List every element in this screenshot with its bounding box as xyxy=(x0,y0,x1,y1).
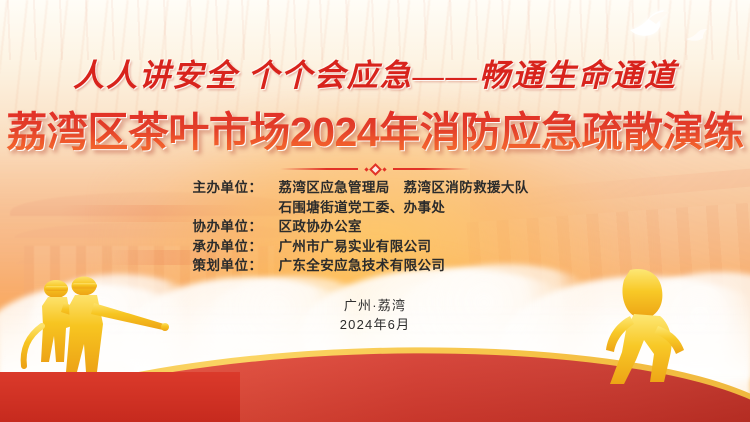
slogan-line: 人人讲安全 个个会应急——畅通生命通道 xyxy=(0,50,750,95)
ornamental-divider xyxy=(280,162,470,176)
location-text: 广州·荔湾 xyxy=(0,296,750,315)
divider-ornament xyxy=(358,165,393,174)
organizer-row: 策划单位： 广东全安应急技术有限公司 xyxy=(193,256,558,276)
organizer-value: 荔湾区应急管理局 荔湾区消防救援大队 xyxy=(279,178,558,198)
divider-dot-icon xyxy=(382,167,386,171)
page-title: 荔湾区茶叶市场2024年消防应急疏散演练 xyxy=(0,98,750,158)
organizer-row: 承办单位： 广州市广易实业有限公司 xyxy=(193,237,558,257)
divider-line-left xyxy=(280,168,358,170)
organizer-label: 策划单位： xyxy=(193,256,279,276)
poster-text-content: 人人讲安全 个个会应急——畅通生命通道 荔湾区茶叶市场2024年消防应急疏散演练… xyxy=(0,0,750,422)
organizer-label: 协办单位： xyxy=(193,217,279,237)
organizer-value: 广东全安应急技术有限公司 xyxy=(279,256,558,276)
organizer-label: 承办单位： xyxy=(193,237,279,257)
organizer-label: 主办单位： xyxy=(193,178,279,198)
organizer-row: 石围塘街道党工委、办事处 xyxy=(193,198,558,218)
poster-canvas: 人人讲安全 个个会应急——畅通生命通道 荔湾区茶叶市场2024年消防应急疏散演练… xyxy=(0,0,750,422)
organizer-row: 主办单位： 荔湾区应急管理局 荔湾区消防救援大队 xyxy=(193,178,558,198)
organizer-value: 区政协办公室 xyxy=(279,217,558,237)
date-text: 2024年6月 xyxy=(0,315,750,334)
organizer-value: 广州市广易实业有限公司 xyxy=(279,237,558,257)
divider-diamond-icon xyxy=(369,163,382,176)
footer-info: 广州·荔湾 2024年6月 xyxy=(0,296,750,334)
organizer-value: 石围塘街道党工委、办事处 xyxy=(279,198,558,218)
organizer-label xyxy=(193,198,279,218)
organizer-row: 协办单位： 区政协办公室 xyxy=(193,217,558,237)
divider-dot-icon xyxy=(364,167,368,171)
divider-line-right xyxy=(393,168,471,170)
organizer-list: 主办单位： 荔湾区应急管理局 荔湾区消防救援大队 石围塘街道党工委、办事处 协办… xyxy=(0,178,750,276)
